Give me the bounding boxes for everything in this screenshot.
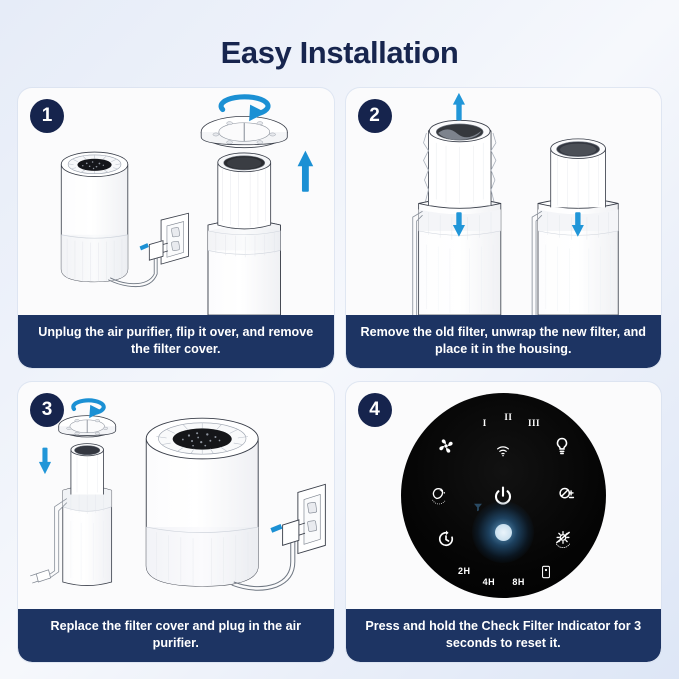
- step-badge-3: 3: [30, 393, 64, 427]
- control-panel-disc[interactable]: I II III: [401, 393, 606, 598]
- air-quality-icon[interactable]: [558, 486, 578, 506]
- mobile-app-icon[interactable]: [542, 565, 551, 579]
- step-badge-1: 1: [30, 99, 64, 133]
- fan-speed-3-label[interactable]: III: [528, 418, 540, 428]
- filter-cover-disc-small: [59, 416, 116, 437]
- air-purifier-flipped: [208, 153, 280, 315]
- replace-cover-and-plug-in-illustration: [18, 382, 334, 609]
- auto-mode-icon[interactable]: [553, 529, 573, 549]
- wall-outlet-large: [298, 484, 325, 553]
- control-panel-illustration: I II III: [346, 382, 662, 609]
- replace-down-arrow-icon: [39, 448, 51, 474]
- wall-outlet: [161, 213, 188, 264]
- air-purifier-upright-large: [146, 418, 258, 586]
- wifi-icon[interactable]: [496, 444, 511, 459]
- step-card-2: 2: [346, 88, 662, 368]
- timer-2h-label[interactable]: 2H: [458, 566, 471, 576]
- step-badge-4: 4: [358, 393, 392, 427]
- remove-up-arrow-icon: [452, 93, 464, 120]
- light-bulb-icon[interactable]: [552, 436, 572, 456]
- timer-icon[interactable]: [436, 529, 456, 549]
- unplug-arrow-icon: [140, 243, 149, 250]
- fan-speed-1-label[interactable]: I: [483, 418, 487, 428]
- lift-up-arrow-icon: [298, 151, 314, 192]
- page-title: Easy Installation: [0, 0, 679, 82]
- step-caption-3: Replace the filter cover and plug in the…: [18, 609, 334, 662]
- sleep-mode-icon[interactable]: [429, 486, 449, 506]
- air-purifier-upright: [61, 152, 128, 282]
- step-caption-2: Remove the old filter, unwrap the new fi…: [346, 315, 662, 368]
- step-caption-4: Press and hold the Check Filter Indicato…: [346, 609, 662, 662]
- fan-speed-icon[interactable]: [436, 436, 456, 456]
- check-filter-indicator-icon[interactable]: [472, 501, 534, 563]
- step-caption-1: Unplug the air purifier, flip it over, a…: [18, 315, 334, 368]
- step-card-3: 3: [18, 382, 334, 662]
- remove-old-filter-illustration: [346, 88, 662, 315]
- unplug-and-remove-cover-illustration: [18, 88, 334, 315]
- filter-cover-disc: [201, 116, 287, 147]
- plug-in-arrow-icon: [270, 524, 282, 533]
- fan-speed-2-label[interactable]: II: [504, 412, 512, 422]
- steps-grid: 1: [18, 88, 661, 662]
- timer-4h-label[interactable]: 4H: [483, 577, 496, 587]
- step-card-4: 4 I II III: [346, 382, 662, 662]
- step-badge-2: 2: [358, 99, 392, 133]
- step-card-1: 1: [18, 88, 334, 368]
- timer-8h-label[interactable]: 8H: [512, 577, 525, 587]
